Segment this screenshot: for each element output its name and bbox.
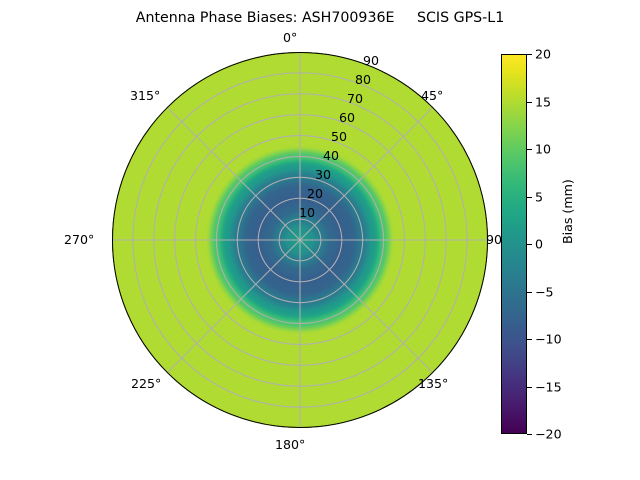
- theta-tick-270: 270°: [64, 232, 94, 247]
- theta-tick-135: 135°: [418, 376, 448, 391]
- polar-grid: [112, 52, 488, 428]
- r-tick-10: 10: [299, 205, 315, 220]
- page-title: Antenna Phase Biases: ASH700936E SCIS GP…: [0, 10, 640, 26]
- colorbar-tick-label: −10: [535, 332, 562, 347]
- colorbar-tick-mark: [527, 244, 532, 245]
- colorbar-tick-mark: [527, 434, 532, 435]
- theta-tick-315: 315°: [130, 88, 160, 103]
- polar-plot[interactable]: [112, 52, 488, 428]
- theta-tick-225: 225°: [131, 376, 161, 391]
- theta-tick-90: 90: [486, 232, 502, 247]
- colorbar-tick-label: 15: [535, 94, 551, 109]
- r-tick-70: 70: [347, 91, 363, 106]
- colorbar-tick-label: −20: [535, 427, 562, 442]
- r-tick-30: 30: [315, 167, 331, 182]
- r-tick-90: 90: [363, 53, 379, 68]
- colorbar-tick-mark: [527, 197, 532, 198]
- colorbar-tick-label: 20: [535, 47, 551, 62]
- figure-canvas: Antenna Phase Biases: ASH700936E SCIS GP…: [0, 0, 640, 480]
- colorbar-tick-mark: [527, 149, 532, 150]
- theta-tick-180: 180°: [275, 437, 305, 452]
- colorbar-tick-mark: [527, 339, 532, 340]
- colorbar-tick-mark: [527, 54, 532, 55]
- colorbar-gradient: [501, 54, 527, 434]
- colorbar[interactable]: 20151050−5−10−15−20: [501, 54, 527, 434]
- colorbar-label: Bias (mm): [560, 179, 575, 244]
- theta-tick-0: 0°: [283, 30, 297, 45]
- r-tick-50: 50: [331, 129, 347, 144]
- r-tick-40: 40: [323, 148, 339, 163]
- r-tick-60: 60: [339, 110, 355, 125]
- colorbar-tick-label: 0: [535, 237, 543, 252]
- colorbar-tick-label: −15: [535, 379, 562, 394]
- colorbar-tick-mark: [527, 387, 532, 388]
- colorbar-tick-label: −5: [535, 284, 554, 299]
- colorbar-tick-label: 5: [535, 189, 543, 204]
- r-tick-20: 20: [307, 186, 323, 201]
- theta-tick-45: 45°: [421, 88, 443, 103]
- colorbar-tick-mark: [527, 292, 532, 293]
- colorbar-tick-mark: [527, 102, 532, 103]
- colorbar-tick-label: 10: [535, 142, 551, 157]
- r-tick-80: 80: [355, 72, 371, 87]
